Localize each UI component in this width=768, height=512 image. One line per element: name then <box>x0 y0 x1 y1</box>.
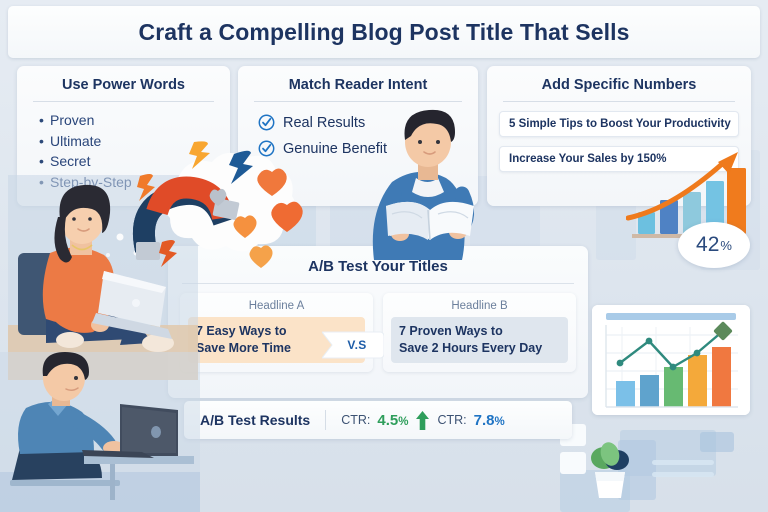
growth-badge-unit: % <box>720 238 732 253</box>
up-arrow-icon <box>415 411 430 430</box>
title-bar: Craft a Compelling Blog Post Title That … <box>8 6 760 58</box>
check-circle-icon <box>258 114 275 131</box>
bg-line-2 <box>652 472 714 477</box>
growth-badge-value: 42 <box>696 233 719 257</box>
ctr-b-value: 7.8% <box>474 412 505 429</box>
card-divider <box>254 101 462 102</box>
reader-intent-label: Real Results <box>283 115 365 131</box>
ctr-b-unit: % <box>495 416 505 428</box>
results-divider <box>325 410 326 430</box>
versus-badge: V.S <box>322 330 384 360</box>
card-title-add-specific-numbers: Add Specific Numbers <box>487 66 751 93</box>
headline-b-text: 7 Proven Ways to Save 2 Hours Every Day <box>391 317 568 363</box>
power-word-label: Proven <box>50 112 94 128</box>
card-divider <box>33 101 214 102</box>
ab-test-results-bar: A/B Test Results CTR: 4.5% CTR: 7.8% <box>184 401 572 439</box>
man-at-desk-illustration <box>0 352 200 512</box>
ctr-b-key: CTR: <box>437 413 466 427</box>
ctr-a-key: CTR: <box>341 413 370 427</box>
bullet-dot-icon: • <box>39 133 50 149</box>
ctr-a-value: 4.5% <box>377 412 408 429</box>
magnet-with-hearts-illustration <box>122 138 314 278</box>
headline-b-card[interactable]: Headline B 7 Proven Ways to Save 2 Hours… <box>383 293 576 372</box>
infographic-canvas: Craft a Compelling Blog Post Title That … <box>0 0 768 512</box>
page-title: Craft a Compelling Blog Post Title That … <box>8 6 760 58</box>
ctr-b-group: CTR: 7.8% <box>437 412 504 429</box>
headline-b-line-1: 7 Proven Ways to <box>399 323 560 340</box>
man-reading-book-illustration <box>368 108 498 260</box>
growth-badge: 42 % <box>678 222 750 268</box>
bullet-dot-icon: • <box>39 153 50 169</box>
bullet-dot-icon: • <box>39 112 50 128</box>
headline-example-pill[interactable]: 5 Simple Tips to Boost Your Productivity <box>499 111 739 137</box>
results-combo-chart-panel <box>592 305 750 415</box>
headline-b-line-2: Save 2 Hours Every Day <box>399 340 560 357</box>
bg-line-1 <box>652 460 714 465</box>
card-divider <box>503 101 735 102</box>
bg-paper-2 <box>560 452 586 474</box>
headline-a-label: Headline A <box>188 300 365 312</box>
potted-plant-illustration <box>586 440 636 502</box>
results-combo-chart <box>592 305 750 415</box>
card-title-match-reader-intent: Match Reader Intent <box>238 66 478 93</box>
versus-label: V.S <box>322 330 384 360</box>
headline-b-label: Headline B <box>391 300 568 312</box>
ctr-a-group: CTR: 4.5% <box>341 412 408 429</box>
list-item: • Proven <box>39 112 230 128</box>
power-word-label: Ultimate <box>50 133 101 149</box>
bg-desk-block-2 <box>700 432 734 452</box>
results-label: A/B Test Results <box>200 412 310 428</box>
card-title-use-power-words: Use Power Words <box>17 66 230 93</box>
power-word-label: Secret <box>50 153 90 169</box>
ctr-a-unit: % <box>398 416 408 428</box>
